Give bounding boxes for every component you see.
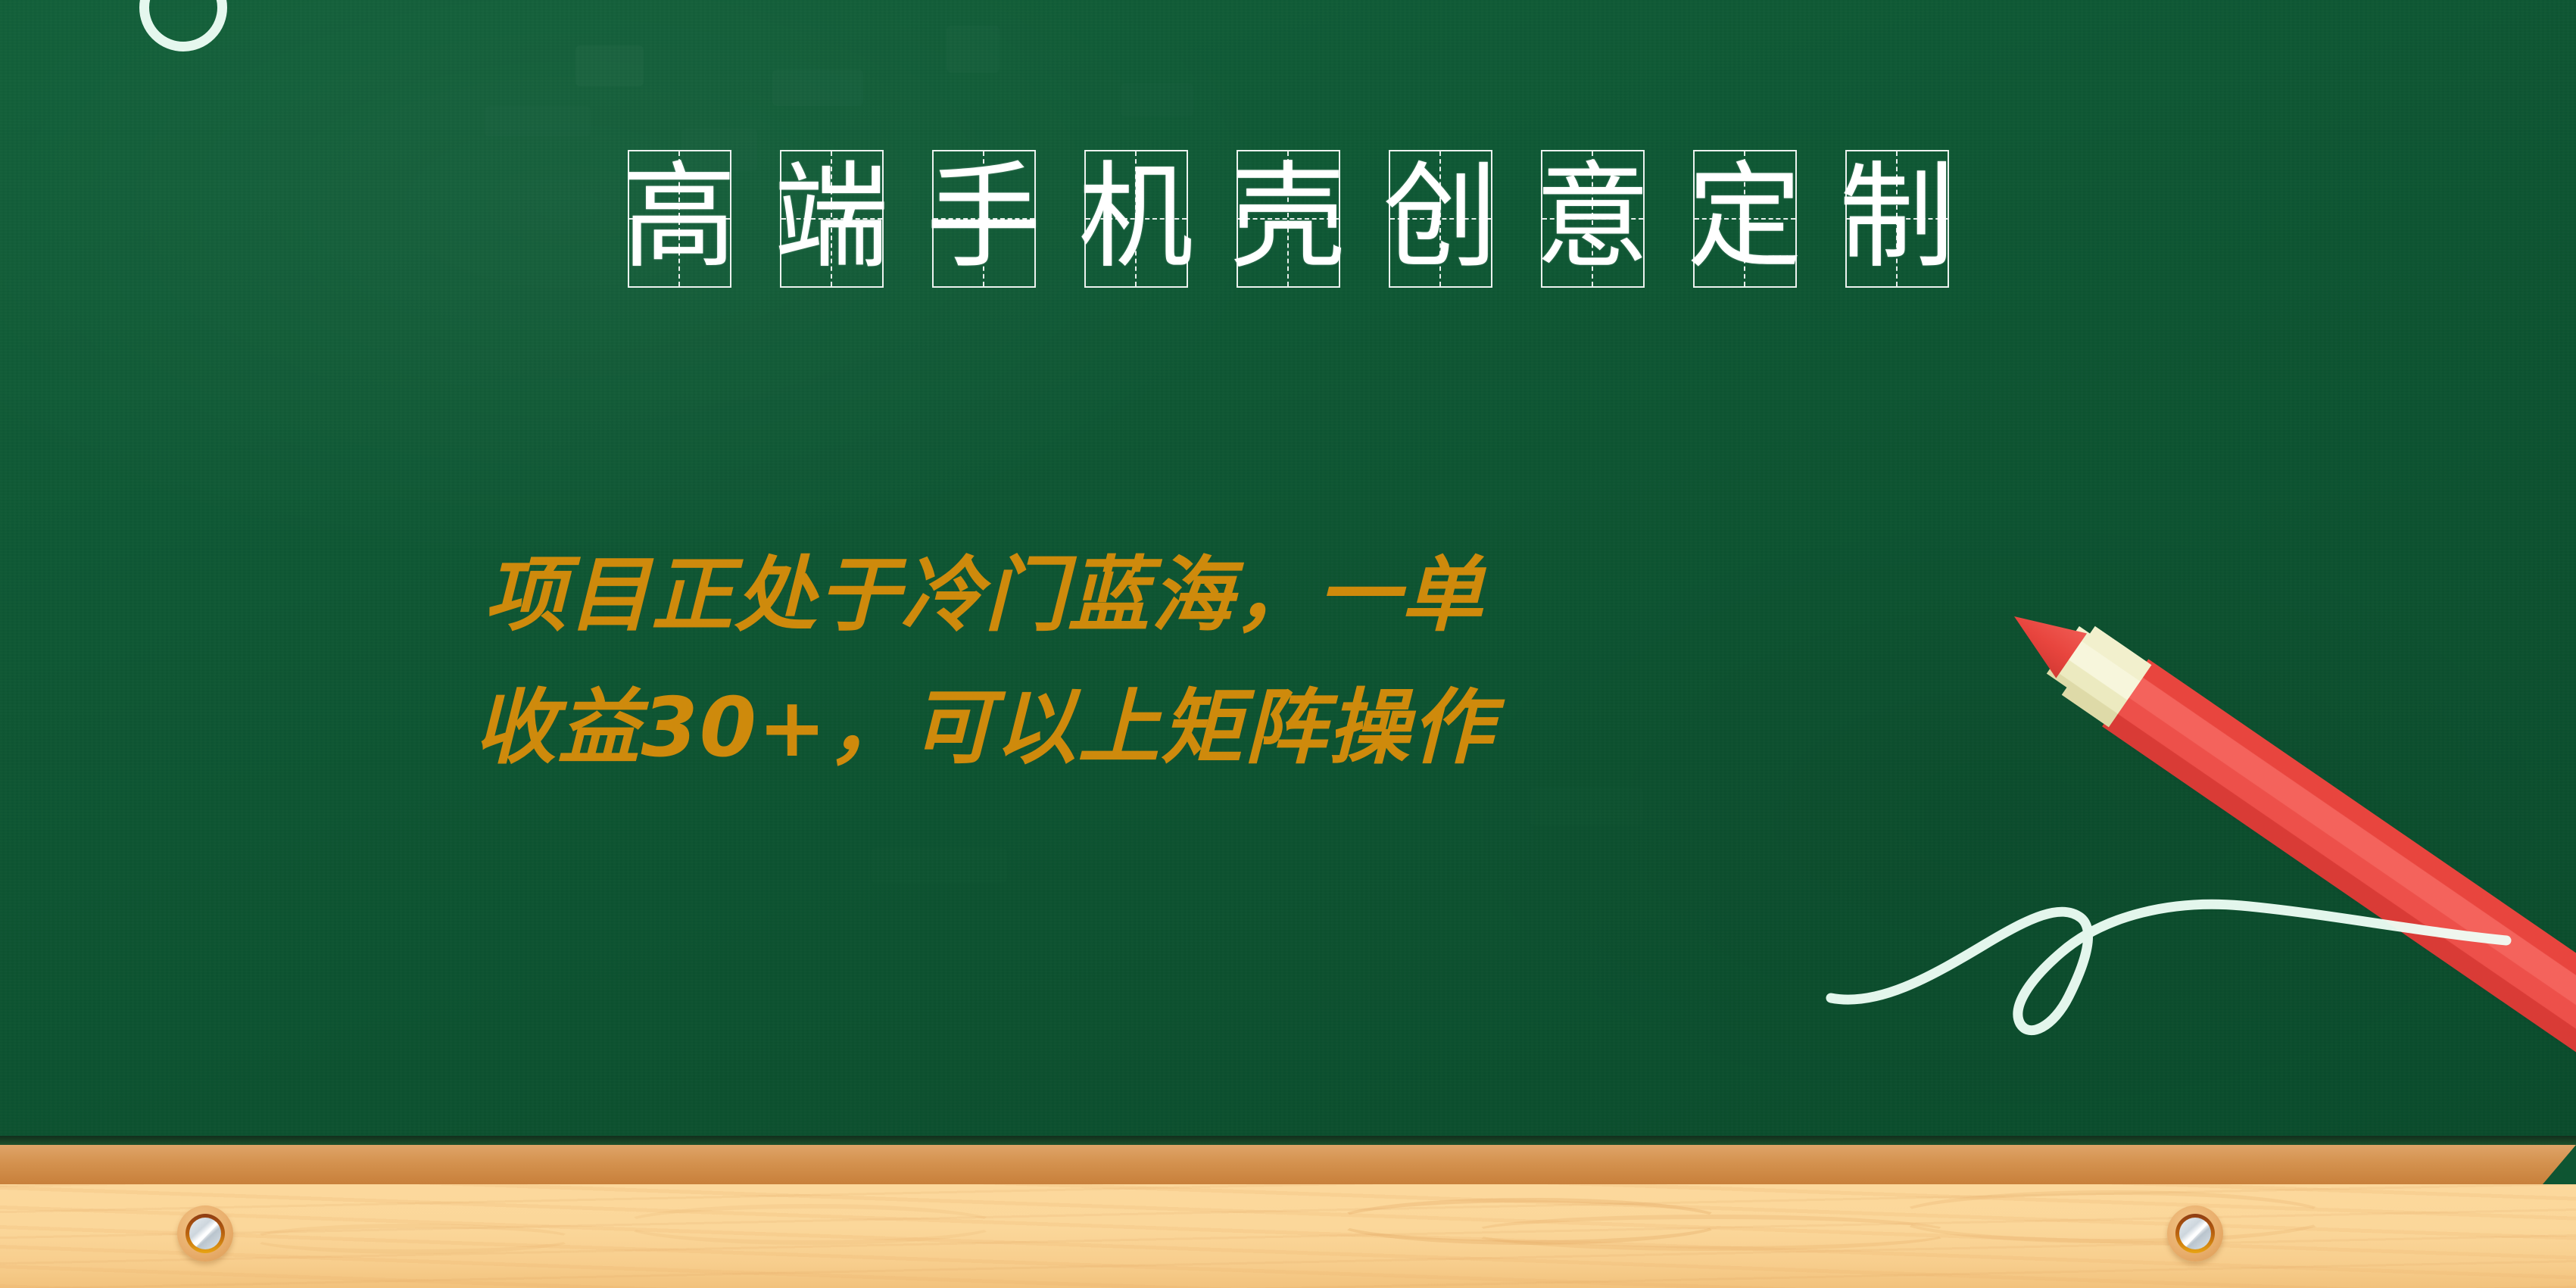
- title-char-glyph: 意: [1535, 160, 1650, 275]
- chalk-smudge: [575, 45, 644, 86]
- screw-head: [189, 1218, 221, 1249]
- title-char-box: 意: [1541, 150, 1645, 288]
- chalk-smudge: [947, 26, 1000, 73]
- title-char-box: 创: [1389, 150, 1492, 288]
- ledge-top-surface: [0, 1184, 2576, 1288]
- title-char-glyph: 创: [1383, 160, 1498, 275]
- title-char-glyph: 壳: [1230, 160, 1346, 275]
- wooden-chalk-ledge: [0, 1136, 2576, 1288]
- ledge-shadow-edge: [0, 1136, 2576, 1145]
- wood-grain: [621, 1204, 1000, 1245]
- title-char-glyph: 制: [1839, 160, 1954, 275]
- screw-head: [2179, 1218, 2211, 1249]
- ledge-front-face: [0, 1145, 2576, 1184]
- title-char-box: 壳: [1237, 150, 1340, 288]
- title-char-glyph: 机: [1078, 160, 1193, 275]
- title-char-box: 定: [1693, 150, 1797, 288]
- title-char-box: 制: [1845, 150, 1949, 288]
- chalk-smudge: [1121, 83, 1193, 117]
- screw-socket: [2175, 1214, 2215, 1253]
- chalk-smudge: [871, 848, 1007, 883]
- chalk-smudge: [485, 106, 591, 136]
- title-char-box: 端: [780, 150, 884, 288]
- wood-grain: [250, 1224, 575, 1254]
- wood-grain: [1469, 1215, 1954, 1251]
- title-char-box: 机: [1084, 150, 1188, 288]
- title-char-box: 手: [932, 150, 1036, 288]
- ledge-screw-right: [2167, 1205, 2223, 1261]
- wood-grain: [1893, 1190, 2332, 1243]
- chalk-smudge: [772, 70, 863, 106]
- title-grid-row: 高 端 手 机 壳 创 意 定 制: [0, 150, 2576, 288]
- title-char-box: 高: [628, 150, 731, 288]
- subtitle-block: 项目正处于冷门蓝海，一单 收益30+，可以上矩阵操作: [0, 530, 1969, 795]
- title-char-glyph: 手: [926, 160, 1041, 275]
- title-char-glyph: 端: [774, 160, 889, 275]
- title-char-glyph: 高: [622, 160, 737, 275]
- title-char-glyph: 定: [1687, 160, 1802, 275]
- screw-socket: [186, 1214, 225, 1253]
- subtitle-line-2: 收益30+，可以上矩阵操作: [0, 663, 1969, 795]
- subtitle-line-1: 项目正处于冷门蓝海，一单: [0, 530, 1969, 663]
- ledge-screw-left: [177, 1205, 233, 1261]
- poster-canvas: 高 端 手 机 壳 创 意 定 制 项目正处于冷门蓝海，一单 收益30+，可以上…: [0, 0, 2576, 1288]
